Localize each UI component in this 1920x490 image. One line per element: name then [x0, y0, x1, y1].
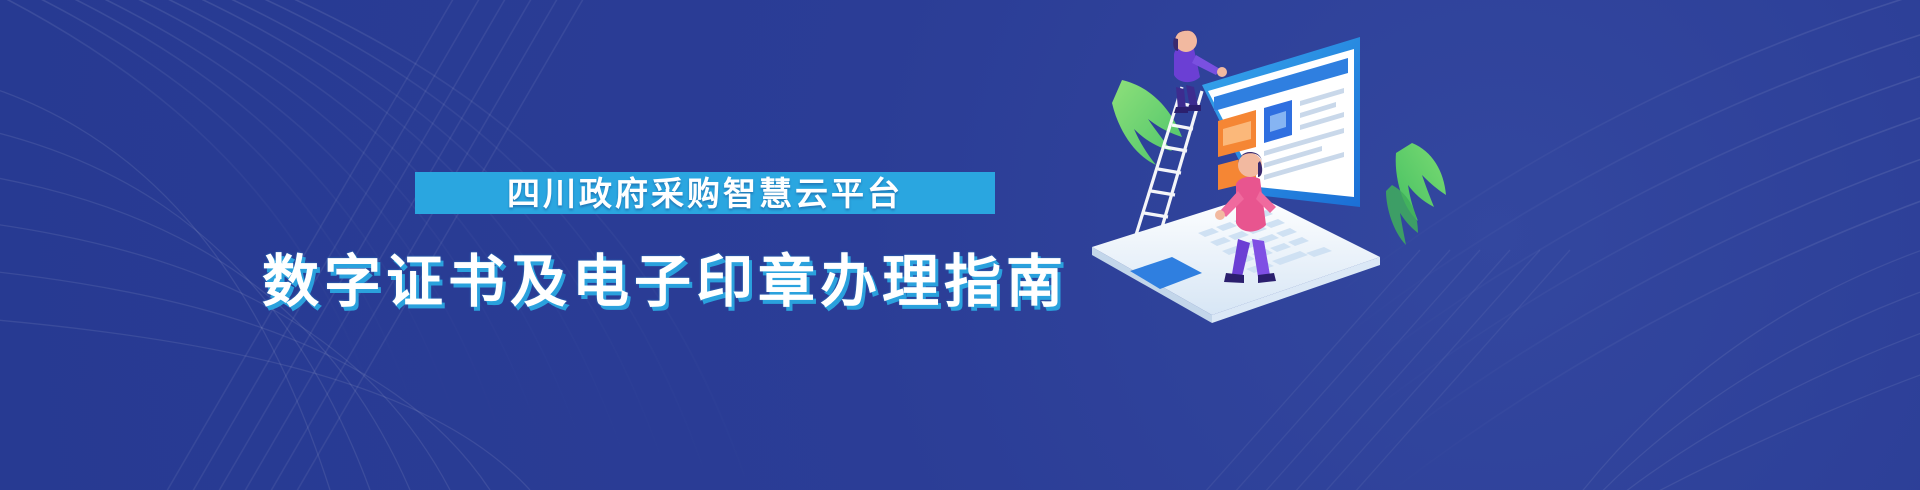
screen-dashboard-mockup — [1202, 37, 1360, 207]
platform-badge: 四川政府采购智慧云平台 — [415, 172, 995, 214]
laptop-workspace-illustration — [1060, 25, 1480, 325]
hero-text-block: 四川政府采购智慧云平台 数字证书及电子印章办理指南 — [0, 0, 1060, 490]
banner-hero: 四川政府采购智慧云平台 数字证书及电子印章办理指南 — [0, 0, 1920, 490]
leaf-plant-right — [1386, 143, 1446, 245]
page-title: 数字证书及电子印章办理指南 — [262, 250, 1002, 316]
illustration-svg — [1060, 25, 1480, 325]
platform-badge-label: 四川政府采购智慧云平台 — [507, 177, 903, 210]
